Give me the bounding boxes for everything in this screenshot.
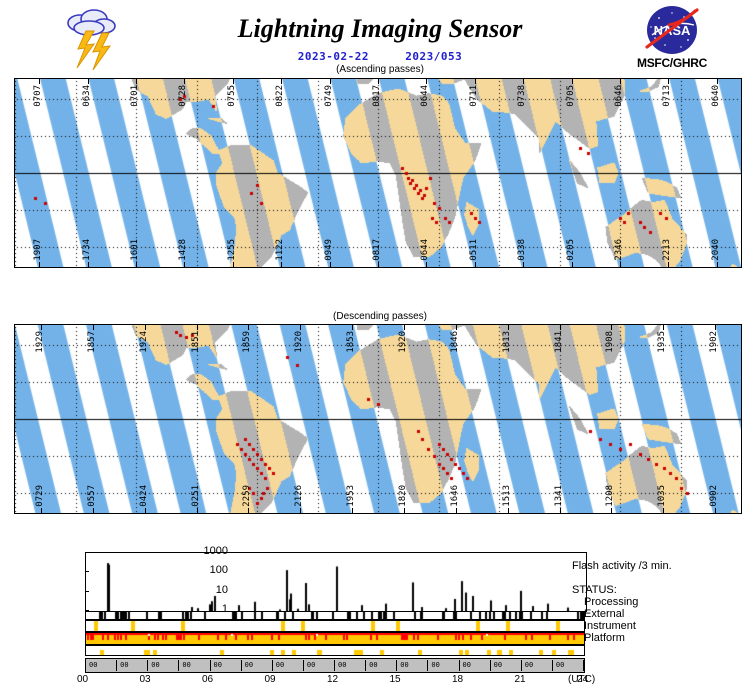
- orbit-time-label: 0902: [710, 485, 719, 507]
- orbit-time-label: 0511: [470, 239, 479, 261]
- orbit-time-label: 1851: [192, 331, 201, 353]
- orbit-time-label: 1857: [88, 331, 97, 353]
- orbit-time-label: 0205: [567, 239, 576, 261]
- orbit-tick-mark: [93, 508, 94, 513]
- ascending-passes-map[interactable]: 0707063407010728075508220749081706440711…: [14, 78, 742, 268]
- y-axis-tick-mark: [85, 571, 89, 572]
- orbit-time-label: 1734: [83, 239, 92, 261]
- orbit-tick-mark: [560, 508, 561, 513]
- date-row: 2023-02-22 2023/053: [180, 50, 580, 63]
- orbit-time-label: 1841: [555, 331, 564, 353]
- orbit-tick-mark: [404, 325, 405, 330]
- descending-bottom-orbit-labels: 0729055704240251225921261953182016461513…: [15, 479, 741, 513]
- orbit-time-label: 1428: [179, 239, 188, 261]
- orbit-time-label: 0713: [663, 85, 672, 107]
- y-axis-tick-label: 10: [194, 584, 228, 596]
- orbit-tick-mark: [233, 262, 234, 267]
- orbit-tick-mark: [88, 79, 89, 84]
- orbit-time-label: 0822: [276, 85, 285, 107]
- y-axis-tick-mark: [85, 591, 89, 592]
- orbit-segment-cell[interactable]: 00: [428, 660, 459, 671]
- orbit-tick-mark: [184, 262, 185, 267]
- nasa-branding: NASA MSFC/GHRC: [620, 5, 724, 73]
- orbit-time-label: 1924: [140, 331, 149, 353]
- orbit-segment-cell[interactable]: 00: [304, 660, 335, 671]
- y-axis-tick-label: 1000: [194, 545, 228, 557]
- panel-legend: Flash activity /3 min. STATUS: Processin…: [572, 560, 756, 644]
- flash-activity-plot[interactable]: [85, 552, 587, 612]
- nasa-meatball-icon: NASA: [639, 5, 705, 55]
- orbit-tick-mark: [715, 508, 716, 513]
- orbit-segment-axis[interactable]: 00000000000000000000000000000000: [85, 658, 585, 673]
- orbit-tick-mark: [508, 508, 509, 513]
- orbit-tick-mark: [668, 262, 669, 267]
- date-doy: 2023/053: [405, 50, 462, 63]
- orbit-segment-cell[interactable]: 00: [179, 660, 210, 671]
- orbit-segment-cell[interactable]: 00: [86, 660, 117, 671]
- orbit-segment-cell[interactable]: 00: [148, 660, 179, 671]
- orbit-time-label: 1820: [399, 485, 408, 507]
- orbit-tick-mark: [281, 262, 282, 267]
- orbit-time-label: 0707: [34, 85, 43, 107]
- orbit-time-label: 1255: [228, 239, 237, 261]
- orbit-tick-mark: [41, 508, 42, 513]
- orbit-tick-mark: [145, 508, 146, 513]
- page-header: Lightning Imaging Sensor 2023-02-22 2023…: [0, 0, 756, 74]
- orbit-time-label: 2213: [663, 239, 672, 261]
- orbit-tick-mark: [663, 325, 664, 330]
- orbit-tick-mark: [248, 325, 249, 330]
- orbit-segment-cell[interactable]: 00: [273, 660, 304, 671]
- orbit-tick-mark: [523, 79, 524, 84]
- orbit-tick-mark: [197, 508, 198, 513]
- orbit-tick-mark: [426, 79, 427, 84]
- orbit-tick-mark: [378, 262, 379, 267]
- descending-passes-map[interactable]: 1929185719241851185919201853192018461813…: [14, 324, 742, 514]
- ascending-bottom-orbit-labels: 1907173416011428125511220949081706440511…: [15, 233, 741, 267]
- orbit-segment-cell[interactable]: 00: [117, 660, 148, 671]
- legend-item-platform: Platform: [572, 632, 756, 644]
- legend-item-external: External: [572, 608, 756, 620]
- orbit-time-label: 2126: [295, 485, 304, 507]
- orbit-time-label: 2259: [243, 485, 252, 507]
- orbit-tick-mark: [475, 262, 476, 267]
- orbit-tick-mark: [39, 79, 40, 84]
- orbit-time-label: 1920: [399, 331, 408, 353]
- orbit-time-label: 1846: [451, 331, 460, 353]
- orbit-time-label: 2040: [712, 239, 721, 261]
- orbit-time-label: 0424: [140, 485, 149, 507]
- orbit-tick-mark: [717, 79, 718, 84]
- orbit-tick-mark: [560, 325, 561, 330]
- date-iso: 2023-02-22: [298, 50, 369, 63]
- legend-item-processing: Processing: [572, 596, 756, 608]
- orbit-time-label: 1601: [131, 239, 140, 261]
- orbit-tick-mark: [456, 325, 457, 330]
- orbit-tick-mark: [715, 325, 716, 330]
- instrument-status-canvas: [86, 633, 584, 644]
- y-axis-tick-mark: [85, 552, 89, 553]
- processing-status-canvas: [86, 612, 584, 619]
- orbit-segment-cell[interactable]: 00: [242, 660, 273, 671]
- thunderstorm-icon: [56, 6, 126, 72]
- orbit-segment-cell[interactable]: 00: [366, 660, 397, 671]
- orbit-tick-mark: [663, 508, 664, 513]
- orbit-tick-mark: [620, 79, 621, 84]
- orbit-segment-cell[interactable]: 00: [397, 660, 428, 671]
- orbit-tick-mark: [611, 508, 612, 513]
- orbit-time-label: 1920: [295, 331, 304, 353]
- orbit-time-label: 0644: [421, 85, 430, 107]
- activity-panel: 1101001000 00000000000000000000000000000…: [60, 548, 756, 680]
- orbit-time-label: 1908: [606, 331, 615, 353]
- flash-activity-legend-title: Flash activity /3 min.: [572, 560, 756, 572]
- orbit-time-label: 0749: [325, 85, 334, 107]
- orbit-tick-mark: [572, 79, 573, 84]
- status-legend-title: STATUS:: [572, 584, 756, 596]
- orbit-tick-mark: [620, 262, 621, 267]
- orbit-time-label: 1902: [710, 331, 719, 353]
- orbit-tick-mark: [611, 325, 612, 330]
- orbit-segment-cell[interactable]: 00: [335, 660, 366, 671]
- orbit-tick-mark: [248, 508, 249, 513]
- orbit-tick-mark: [404, 508, 405, 513]
- orbit-tick-mark: [456, 508, 457, 513]
- orbit-tick-mark: [330, 79, 331, 84]
- orbit-tick-mark: [39, 262, 40, 267]
- orbit-tick-mark: [717, 262, 718, 267]
- orbit-time-label: 1907: [34, 239, 43, 261]
- orbit-time-label: 1813: [503, 331, 512, 353]
- orbit-time-label: 0644: [421, 239, 430, 261]
- orbit-time-label: 1929: [36, 331, 45, 353]
- orbit-tick-mark: [523, 262, 524, 267]
- center-label: MSFC/GHRC: [620, 56, 724, 70]
- orbit-time-label: 0557: [88, 485, 97, 507]
- orbit-tick-mark: [475, 79, 476, 84]
- orbit-time-label: 2346: [615, 239, 624, 261]
- orbit-time-label: 0817: [373, 85, 382, 107]
- orbit-tick-mark: [88, 262, 89, 267]
- orbit-segment-cell[interactable]: 00: [211, 660, 242, 671]
- orbit-tick-mark: [136, 79, 137, 84]
- orbit-time-label: 1853: [347, 331, 356, 353]
- orbit-time-label: 0251: [192, 485, 201, 507]
- orbit-time-label: 1513: [503, 485, 512, 507]
- orbit-tick-mark: [300, 508, 301, 513]
- orbit-segment-cell[interactable]: 00: [553, 660, 584, 671]
- orbit-tick-mark: [197, 325, 198, 330]
- orbit-segment-cell[interactable]: 00: [491, 660, 522, 671]
- status-row-platform[interactable]: [85, 645, 585, 656]
- orbit-tick-mark: [93, 325, 94, 330]
- orbit-time-label: 0738: [518, 85, 527, 107]
- orbit-time-label: 0634: [83, 85, 92, 107]
- descending-pass-caption: (Descending passes): [180, 311, 580, 322]
- orbit-tick-mark: [300, 325, 301, 330]
- status-row-external[interactable]: [85, 620, 585, 632]
- y-axis-tick-label: 100: [194, 564, 228, 576]
- time-axis-hour-labels: 000306091215182124: [60, 674, 620, 686]
- orbit-tick-mark: [184, 79, 185, 84]
- orbit-tick-mark: [136, 262, 137, 267]
- orbit-time-label: 1122: [276, 239, 285, 261]
- ascending-pass-caption: (Ascending passes): [180, 64, 580, 75]
- orbit-time-label: 0711: [470, 85, 479, 107]
- orbit-tick-mark: [41, 325, 42, 330]
- page-title: Lightning Imaging Sensor: [180, 14, 580, 44]
- orbit-tick-mark: [426, 262, 427, 267]
- orbit-segment-cell[interactable]: 00: [522, 660, 553, 671]
- orbit-time-label: 0701: [131, 85, 140, 107]
- platform-status-canvas: [86, 646, 584, 655]
- orbit-time-label: 1646: [451, 485, 460, 507]
- external-status-canvas: [86, 621, 584, 631]
- orbit-time-label: 0338: [518, 239, 527, 261]
- status-row-processing[interactable]: [85, 611, 585, 620]
- orbit-time-label: 1208: [606, 485, 615, 507]
- orbit-time-label: 1935: [658, 331, 667, 353]
- flash-activity-bars: [86, 553, 586, 611]
- orbit-time-label: 0646: [615, 85, 624, 107]
- orbit-tick-mark: [572, 262, 573, 267]
- orbit-tick-mark: [281, 79, 282, 84]
- orbit-tick-mark: [233, 79, 234, 84]
- orbit-time-label: 1035: [658, 485, 667, 507]
- orbit-time-label: 1341: [555, 485, 564, 507]
- orbit-tick-mark: [145, 325, 146, 330]
- orbit-tick-mark: [378, 79, 379, 84]
- orbit-tick-mark: [508, 325, 509, 330]
- legend-item-instrument: Instrument: [572, 620, 756, 632]
- orbit-time-label: 0728: [179, 85, 188, 107]
- orbit-time-label: 1953: [347, 485, 356, 507]
- orbit-time-label: 1859: [243, 331, 252, 353]
- ascending-top-orbit-labels: 0707063407010728075508220749081706440711…: [15, 79, 741, 113]
- orbit-time-label: 0705: [567, 85, 576, 107]
- orbit-tick-mark: [352, 325, 353, 330]
- status-row-instrument[interactable]: [85, 632, 585, 645]
- orbit-segment-cell[interactable]: 00: [460, 660, 491, 671]
- orbit-time-label: 0640: [712, 85, 721, 107]
- orbit-tick-mark: [352, 508, 353, 513]
- orbit-time-label: 0949: [325, 239, 334, 261]
- orbit-time-label: 0817: [373, 239, 382, 261]
- descending-top-orbit-labels: 1929185719241851185919201853192018461813…: [15, 325, 741, 359]
- orbit-time-label: 0755: [228, 85, 237, 107]
- orbit-tick-mark: [668, 79, 669, 84]
- orbit-time-label: 0729: [36, 485, 45, 507]
- orbit-tick-mark: [330, 262, 331, 267]
